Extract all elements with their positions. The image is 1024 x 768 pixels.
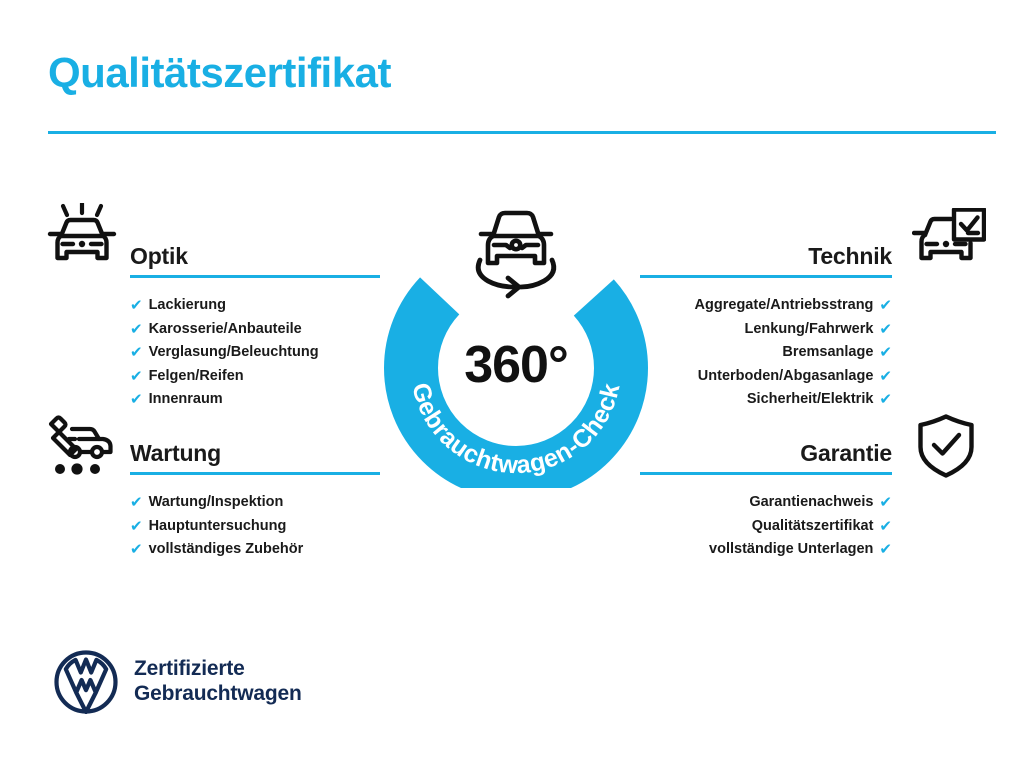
list-item-label: Garantienachweis	[749, 491, 873, 515]
check-icon: ✔	[130, 298, 143, 313]
check-icon: ✔	[130, 519, 143, 534]
list-item-label: Qualitätszertifikat	[752, 515, 874, 539]
list-item-label: Unterboden/Abgasanlage	[698, 365, 874, 389]
check-icon: ✔	[130, 542, 143, 557]
checklist-garantie: Garantienachweis✔ Qualitätszertifikat✔ v…	[640, 491, 892, 562]
service-tools-car-icon	[46, 414, 118, 476]
footer-wordmark: Zertifizierte Gebrauchtwagen	[134, 656, 302, 706]
list-item: ✔vollständiges Zubehör	[130, 538, 380, 562]
section-divider	[130, 275, 380, 278]
list-item: Qualitätszertifikat✔	[640, 515, 892, 539]
car-rotate-360-icon	[478, 213, 554, 296]
check-icon: ✔	[130, 369, 143, 384]
checklist-wartung: ✔Wartung/Inspektion ✔Hauptuntersuchung ✔…	[130, 491, 380, 562]
check-icon: ✔	[130, 495, 143, 510]
section-header: Technik	[640, 238, 892, 278]
check-icon: ✔	[879, 542, 892, 557]
check-icon: ✔	[130, 345, 143, 360]
list-item: ✔Karosserie/Anbauteile	[130, 318, 380, 342]
certificate-page: Qualitätszertifikat	[0, 0, 1024, 768]
section-divider	[640, 472, 892, 475]
badge-value: 360°	[464, 336, 568, 394]
car-shine-icon	[46, 203, 118, 269]
list-item-label: Lenkung/Fahrwerk	[745, 318, 874, 342]
list-item-label: vollständiges Zubehör	[149, 538, 304, 562]
footer-logo-block: Zertifizierte Gebrauchtwagen	[54, 650, 384, 722]
section-title: Garantie	[800, 440, 892, 467]
check-icon: ✔	[879, 392, 892, 407]
title-divider	[48, 131, 996, 134]
footer-line-1: Zertifizierte	[134, 656, 302, 681]
checklist-optik: ✔Lackierung ✔Karosserie/Anbauteile ✔Verg…	[130, 294, 380, 412]
list-item: Lenkung/Fahrwerk✔	[640, 318, 892, 342]
list-item-label: Bremsanlage	[782, 341, 873, 365]
section-header: Optik	[130, 238, 380, 278]
section-title: Wartung	[130, 440, 221, 467]
list-item: Unterboden/Abgasanlage✔	[640, 365, 892, 389]
section-optik: Optik ✔Lackierung ✔Karosserie/Anbauteile…	[130, 238, 380, 412]
section-divider	[130, 472, 380, 475]
list-item-label: Aggregate/Antriebsstrang	[695, 294, 874, 318]
section-wartung: Wartung ✔Wartung/Inspektion ✔Hauptunters…	[130, 435, 380, 562]
list-item: ✔Hauptuntersuchung	[130, 515, 380, 539]
section-header: Wartung	[130, 435, 380, 475]
list-item-label: Innenraum	[149, 388, 223, 412]
list-item-label: Wartung/Inspektion	[149, 491, 284, 515]
check-icon: ✔	[130, 392, 143, 407]
check-icon: ✔	[879, 519, 892, 534]
list-item-label: vollständige Unterlagen	[709, 538, 873, 562]
list-item: ✔Felgen/Reifen	[130, 365, 380, 389]
section-technik: Technik Aggregate/Antriebsstrang✔ Lenkun…	[640, 238, 892, 412]
list-item: ✔Innenraum	[130, 388, 380, 412]
page-title: Qualitätszertifikat	[48, 52, 391, 94]
check-icon: ✔	[879, 322, 892, 337]
list-item-label: Verglasung/Beleuchtung	[149, 341, 319, 365]
list-item: Garantienachweis✔	[640, 491, 892, 515]
shield-check-icon	[917, 414, 975, 478]
section-title: Technik	[808, 243, 892, 270]
list-item: ✔Wartung/Inspektion	[130, 491, 380, 515]
car-checkbox-icon	[912, 208, 986, 270]
list-item-label: Karosserie/Anbauteile	[149, 318, 302, 342]
check-icon: ✔	[879, 495, 892, 510]
list-item: Bremsanlage✔	[640, 341, 892, 365]
footer-line-2: Gebrauchtwagen	[134, 681, 302, 706]
badge-360-svg: Gebrauchtwagen-Check 360°	[375, 196, 657, 488]
volkswagen-logo-icon	[54, 650, 118, 714]
list-item: ✔Verglasung/Beleuchtung	[130, 341, 380, 365]
section-garantie: Garantie Garantienachweis✔ Qualitätszert…	[640, 435, 892, 562]
list-item-label: Hauptuntersuchung	[149, 515, 287, 539]
section-title: Optik	[130, 243, 188, 270]
list-item: ✔Lackierung	[130, 294, 380, 318]
check-icon: ✔	[879, 369, 892, 384]
check-icon: ✔	[879, 345, 892, 360]
list-item: vollständige Unterlagen✔	[640, 538, 892, 562]
check-icon: ✔	[879, 298, 892, 313]
list-item: Aggregate/Antriebsstrang✔	[640, 294, 892, 318]
checklist-technik: Aggregate/Antriebsstrang✔ Lenkung/Fahrwe…	[640, 294, 892, 412]
check-icon: ✔	[130, 322, 143, 337]
list-item-label: Sicherheit/Elektrik	[747, 388, 874, 412]
list-item: Sicherheit/Elektrik✔	[640, 388, 892, 412]
section-header: Garantie	[640, 435, 892, 475]
list-item-label: Lackierung	[149, 294, 226, 318]
list-item-label: Felgen/Reifen	[149, 365, 244, 389]
badge-360-gebrauchtwagen-check: Gebrauchtwagen-Check 360°	[375, 196, 657, 488]
section-divider	[640, 275, 892, 278]
